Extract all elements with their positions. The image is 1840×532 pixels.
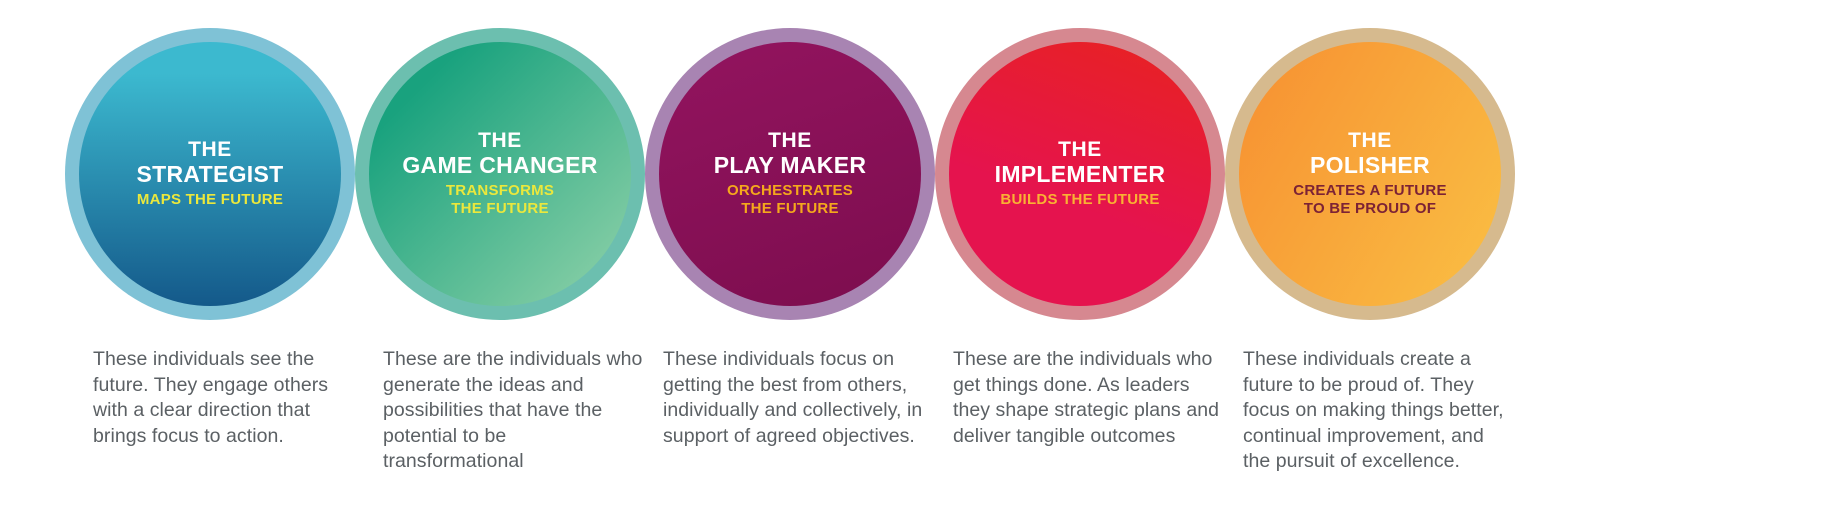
circle-disc: THE POLISHER CREATES A FUTURE TO BE PROU… (1239, 42, 1501, 306)
tagline-line: BUILDS THE FUTURE (949, 191, 1211, 209)
archetype-role: PLAY MAKER (659, 152, 921, 178)
circle-disc: THE STRATEGIST MAPS THE FUTURE (79, 42, 341, 306)
tagline-line: TRANSFORMS (369, 182, 631, 200)
tagline-line: ORCHESTRATES (659, 182, 921, 200)
archetype-card-implementer[interactable]: THE IMPLEMENTER BUILDS THE FUTURE These … (935, 0, 1225, 532)
archetype-description: These individuals focus on getting the b… (663, 347, 935, 449)
archetype-circle-play-maker[interactable]: THE PLAY MAKER ORCHESTRATES THE FUTURE (645, 28, 935, 320)
archetype-circle-polisher[interactable]: THE POLISHER CREATES A FUTURE TO BE PROU… (1225, 28, 1515, 320)
circle-label-group: THE POLISHER CREATES A FUTURE TO BE PROU… (1239, 129, 1501, 220)
archetype-grid: THE STRATEGIST MAPS THE FUTURE These ind… (0, 0, 1840, 532)
archetype-eyebrow: THE (949, 138, 1211, 161)
archetype-description: These are the individuals who get things… (953, 347, 1225, 449)
archetype-description: These individuals create a future to be … (1243, 347, 1509, 475)
archetype-description: These individuals see the future. They e… (93, 347, 355, 449)
circle-disc: THE PLAY MAKER ORCHESTRATES THE FUTURE (659, 42, 921, 306)
archetype-tagline: MAPS THE FUTURE (79, 191, 341, 209)
archetype-role: STRATEGIST (79, 161, 341, 187)
tagline-line: CREATES A FUTURE (1239, 182, 1501, 200)
tagline-line: THE FUTURE (659, 200, 921, 218)
circle-disc: THE GAME CHANGER TRANSFORMS THE FUTURE (369, 42, 631, 306)
tagline-line: THE FUTURE (369, 200, 631, 218)
circle-disc: THE IMPLEMENTER BUILDS THE FUTURE (949, 42, 1211, 306)
archetypes-board: THE STRATEGIST MAPS THE FUTURE These ind… (0, 0, 1840, 532)
tagline-line: MAPS THE FUTURE (79, 191, 341, 209)
archetype-card-polisher[interactable]: THE POLISHER CREATES A FUTURE TO BE PROU… (1225, 0, 1515, 532)
archetype-tagline: TRANSFORMS THE FUTURE (369, 182, 631, 218)
archetype-role: GAME CHANGER (369, 152, 631, 178)
archetype-card-strategist[interactable]: THE STRATEGIST MAPS THE FUTURE These ind… (65, 0, 355, 532)
archetype-card-game-changer[interactable]: THE GAME CHANGER TRANSFORMS THE FUTURE T… (355, 0, 645, 532)
circle-label-group: THE PLAY MAKER ORCHESTRATES THE FUTURE (659, 129, 921, 220)
archetype-eyebrow: THE (79, 138, 341, 161)
circle-label-group: THE IMPLEMENTER BUILDS THE FUTURE (949, 138, 1211, 211)
circle-label-group: THE STRATEGIST MAPS THE FUTURE (79, 138, 341, 211)
archetype-tagline: CREATES A FUTURE TO BE PROUD OF (1239, 182, 1501, 218)
archetype-tagline: BUILDS THE FUTURE (949, 191, 1211, 209)
archetype-role: POLISHER (1239, 152, 1501, 178)
archetype-eyebrow: THE (659, 129, 921, 152)
archetype-card-play-maker[interactable]: THE PLAY MAKER ORCHESTRATES THE FUTURE T… (645, 0, 935, 532)
archetype-eyebrow: THE (369, 129, 631, 152)
archetype-circle-game-changer[interactable]: THE GAME CHANGER TRANSFORMS THE FUTURE (355, 28, 645, 320)
archetype-description: These are the individuals who generate t… (383, 347, 645, 475)
archetype-circle-implementer[interactable]: THE IMPLEMENTER BUILDS THE FUTURE (935, 28, 1225, 320)
archetype-role: IMPLEMENTER (949, 161, 1211, 187)
archetype-circle-strategist[interactable]: THE STRATEGIST MAPS THE FUTURE (65, 28, 355, 320)
circle-label-group: THE GAME CHANGER TRANSFORMS THE FUTURE (369, 129, 631, 220)
archetype-eyebrow: THE (1239, 129, 1501, 152)
archetype-tagline: ORCHESTRATES THE FUTURE (659, 182, 921, 218)
tagline-line: TO BE PROUD OF (1239, 200, 1501, 218)
